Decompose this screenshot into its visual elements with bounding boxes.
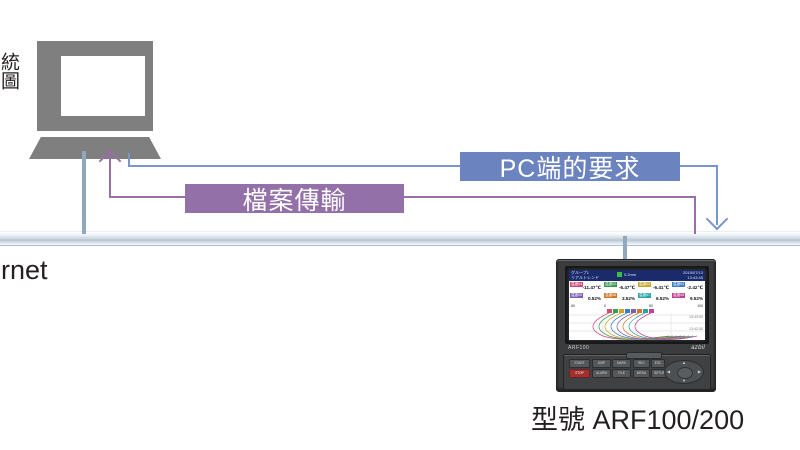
lcd-channel: 温度02 -6.47℃ xyxy=(603,281,637,292)
lcd-channel-grid: 温度04 -11.47℃ 温度02 -6.47℃ 温度03 -6.41℃ 温度0… xyxy=(569,281,705,303)
recorder-brand-logo: azbil xyxy=(691,345,705,351)
lcd-channel-tag: 温度06 xyxy=(604,293,617,298)
lcd-channel: 温度07 6.52% xyxy=(637,292,671,303)
recorder-display-bezel: グループ1 リアルトレンド 0.2mm 2015/07/13 13:43:45 … xyxy=(565,266,709,344)
recorder-start-button[interactable]: START xyxy=(569,359,590,368)
laptop-network-cable xyxy=(82,151,86,234)
lcd-mode: リアルトレンド xyxy=(571,276,599,281)
lcd-channel-tag: 温度04 xyxy=(570,282,583,287)
lcd-channel-value: -6.47℃ xyxy=(619,285,635,291)
pc-request-link-left xyxy=(128,165,461,167)
lcd-speed: 0.2mm xyxy=(617,272,636,277)
paperless-recorder[interactable]: グループ1 リアルトレンド 0.2mm 2015/07/13 13:43:45 … xyxy=(556,259,716,392)
lcd-channel-value: -11.47℃ xyxy=(583,285,601,291)
lcd-channel-tag: 温度03 xyxy=(638,282,651,287)
callout-pc-request[interactable]: PC端的要求 xyxy=(460,152,680,181)
pc-request-link-right xyxy=(679,165,717,167)
file-transfer-link-left xyxy=(109,196,186,198)
recorder-dpad[interactable]: ▲ ▼ ◀ ▶ xyxy=(664,360,704,384)
recorder-mark-button[interactable]: MARK xyxy=(612,359,631,368)
recorder-control-panel[interactable]: STOP START DISP MARK ALARM FILE REC MENU… xyxy=(563,354,711,390)
recorder-door-handle[interactable] xyxy=(626,352,662,359)
lcd-channel-value: -6.41℃ xyxy=(653,285,669,291)
pc-request-arrow-head xyxy=(706,208,729,231)
laptop-pc xyxy=(29,41,161,159)
arrow-left-icon[interactable]: ◀ xyxy=(667,370,670,374)
ethernet-backbone-bar xyxy=(0,231,800,246)
recorder-esc-button[interactable]: ESC xyxy=(651,359,665,368)
lcd-channel: 温度04 -11.47℃ xyxy=(569,281,603,292)
lcd-channel-tag: 温度05 xyxy=(570,293,583,298)
lcd-trend-plot: -50 0 50 100 xyxy=(569,303,705,340)
lcd-channel-tag: 温度02 xyxy=(604,282,617,287)
callout-pc-request-label: PC端的要求 xyxy=(500,149,641,185)
lcd-channel: 温度05 0.52% xyxy=(569,292,603,303)
lcd-channel: 温度04 -2.42℃ xyxy=(671,281,705,292)
device-caption: 型號 ARF100/200 xyxy=(531,404,744,436)
lcd-channel-value: -2.42℃ xyxy=(687,285,703,291)
arrow-right-icon[interactable]: ▶ xyxy=(698,370,701,374)
recorder-dpad-center[interactable] xyxy=(677,367,693,379)
recorder-alarm-button[interactable]: ALARM xyxy=(592,369,611,378)
lcd-channel-tag: 温度07 xyxy=(638,293,651,298)
file-transfer-link-down xyxy=(694,196,696,234)
callout-file-transfer[interactable]: 檔案傳輸 xyxy=(185,184,404,213)
lcd-time: 13:43:45 xyxy=(683,276,703,281)
lcd-header: グループ1 リアルトレンド 0.2mm 2015/07/13 13:43:45 xyxy=(569,270,705,281)
lcd-channel: 温度03 -6.41℃ xyxy=(637,281,671,292)
diagram-title-fragment: 統圖 xyxy=(0,52,18,90)
recorder-disp-button[interactable]: DISP xyxy=(592,359,611,368)
lcd-channel: 温度08 9.52% xyxy=(671,292,705,303)
recorder-lcd: グループ1 リアルトレンド 0.2mm 2015/07/13 13:43:45 … xyxy=(569,270,705,340)
lcd-channel: 温度06 3.52% xyxy=(603,292,637,303)
laptop-screen xyxy=(61,56,145,116)
callout-file-transfer-label: 檔案傳輸 xyxy=(242,181,346,217)
lcd-group: グループ1 リアルトレンド xyxy=(571,271,599,280)
recorder-menu-button[interactable]: MENU xyxy=(633,369,650,378)
lcd-run-indicator xyxy=(617,272,622,277)
lcd-timestamp: 13:43:00 xyxy=(689,315,703,319)
network-diagram: 統圖 ernet 檔案傳輸 PC端的要求 xyxy=(0,0,800,450)
recorder-stop-button[interactable]: STOP xyxy=(569,369,590,378)
lcd-speed-value: 0.2mm xyxy=(624,272,636,277)
recorder-rec-button[interactable]: REC xyxy=(633,359,650,368)
lcd-channel-value: 0.52% xyxy=(588,296,601,302)
ethernet-label: ernet xyxy=(0,255,48,285)
lcd-channel-tag: 温度04 xyxy=(672,282,685,287)
file-transfer-link-right xyxy=(403,196,695,198)
recorder-file-button[interactable]: FILE xyxy=(612,369,631,378)
arrow-down-icon[interactable]: ▼ xyxy=(682,379,686,383)
lcd-channel-value: 9.52% xyxy=(690,296,703,302)
laptop-lid xyxy=(37,41,153,131)
lcd-datetime: 2015/07/13 13:43:45 xyxy=(683,271,703,280)
recorder-model-badge: ARF100 xyxy=(568,345,589,351)
lcd-trend-curves xyxy=(569,303,705,340)
laptop-base xyxy=(29,137,161,159)
lcd-channel-value: 6.52% xyxy=(656,296,669,302)
arrow-up-icon[interactable]: ▲ xyxy=(682,361,686,365)
lcd-channel-value: 3.52% xyxy=(622,296,635,302)
lcd-channel-tag: 温度08 xyxy=(672,293,685,298)
lcd-timestamp: 13:42:30 xyxy=(689,327,703,331)
